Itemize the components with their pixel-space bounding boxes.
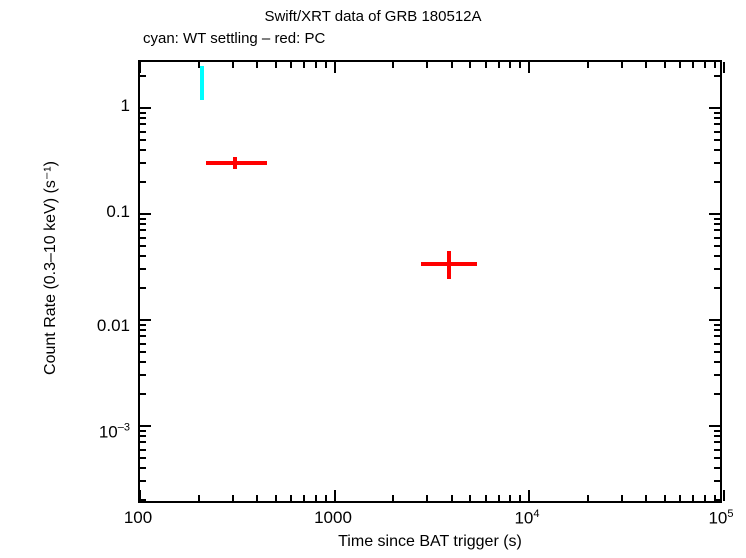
y-axis-tick: [714, 268, 720, 270]
y-axis-tick: [140, 430, 146, 432]
x-axis-tick: [528, 62, 530, 73]
x-axis-tick: [392, 495, 394, 501]
y-axis-tick: [140, 343, 146, 345]
y-axis-tick: [714, 393, 720, 395]
x-axis-tick: [315, 62, 317, 68]
x-axis-tick: [485, 495, 487, 501]
x-axis-tick: [664, 495, 666, 501]
x-axis-tick: [485, 62, 487, 68]
x-axis-tick: [139, 62, 141, 73]
x-axis-tick: [290, 62, 292, 68]
y-axis-tick: [714, 449, 720, 451]
y-axis-tick: [140, 75, 146, 77]
y-axis-tick: [714, 181, 720, 183]
x-axis-tick: [587, 495, 589, 501]
y-axis-tick: [714, 335, 720, 337]
y-tick-label: 10–3: [99, 422, 130, 443]
y-axis-tick: [714, 467, 720, 469]
y-axis-tick: [714, 229, 720, 231]
x-axis-tick: [704, 62, 706, 68]
y-tick-label: 0.01: [97, 316, 130, 336]
y-axis-tick: [140, 449, 146, 451]
x-axis-tick: [232, 495, 234, 501]
x-axis-tick: [232, 62, 234, 68]
x-axis-tick: [290, 495, 292, 501]
y-axis-tick: [714, 117, 720, 119]
x-axis-tick: [426, 495, 428, 501]
y-axis-tick: [140, 139, 146, 141]
y-axis-tick: [714, 480, 720, 482]
y-axis-tick: [140, 457, 146, 459]
y-axis-tick: [709, 213, 720, 215]
y-axis-tick: [714, 374, 720, 376]
x-axis-tick: [392, 62, 394, 68]
x-axis-tick: [256, 495, 258, 501]
x-axis-tick: [303, 495, 305, 501]
x-axis-tick: [256, 62, 258, 68]
x-axis-tick: [451, 62, 453, 68]
legend-subtitle: cyan: WT settling – red: PC: [143, 30, 325, 47]
y-axis-tick: [714, 162, 720, 164]
y-axis-tick: [140, 441, 146, 443]
y-axis-tick: [714, 223, 720, 225]
x-axis-tick: [498, 495, 500, 501]
y-axis-tick: [140, 324, 146, 326]
x-axis-tick: [315, 495, 317, 501]
y-axis-tick: [714, 499, 720, 501]
y-axis-tick: [140, 374, 146, 376]
y-axis-tick: [140, 467, 146, 469]
y-axis-tick: [714, 343, 720, 345]
y-tick-label: 1: [121, 96, 130, 116]
x-axis-tick: [645, 62, 647, 68]
x-axis-tick: [334, 62, 336, 73]
y-axis-tick: [714, 131, 720, 133]
y-axis-tick: [140, 237, 146, 239]
y-axis-tick: [140, 319, 151, 321]
y-axis-tick: [714, 457, 720, 459]
x-tick-label: 105: [708, 508, 733, 529]
x-axis-tick: [645, 495, 647, 501]
y-axis-tick: [140, 131, 146, 133]
y-axis-tick: [714, 123, 720, 125]
y-axis-tick: [140, 107, 151, 109]
y-axis-tick: [140, 245, 146, 247]
x-axis-tick: [528, 490, 530, 501]
x-axis-tick: [723, 62, 725, 73]
x-axis-tick: [426, 62, 428, 68]
x-axis-tick: [679, 495, 681, 501]
y-axis-tick: [709, 319, 720, 321]
x-axis-tick: [325, 62, 327, 68]
x-tick-label: 104: [514, 508, 539, 529]
page-title: Swift/XRT data of GRB 180512A: [0, 8, 746, 25]
y-axis-tick: [140, 329, 146, 331]
y-axis-tick: [140, 123, 146, 125]
y-axis-tick: [140, 218, 146, 220]
x-axis-tick: [714, 62, 716, 68]
x-axis-tick: [509, 62, 511, 68]
x-axis-tick: [679, 62, 681, 68]
x-axis-tick: [498, 62, 500, 68]
x-axis-tick: [469, 62, 471, 68]
x-axis-tick: [621, 62, 623, 68]
x-axis-tick: [275, 62, 277, 68]
x-axis-tick: [664, 62, 666, 68]
y-axis-tick: [140, 117, 146, 119]
x-axis-tick: [325, 495, 327, 501]
x-axis-tick: [692, 62, 694, 68]
y-axis-tick: [714, 324, 720, 326]
y-axis-tick: [140, 213, 151, 215]
plot-frame: [138, 60, 722, 503]
y-axis-tick: [140, 181, 146, 183]
y-axis-tick: [140, 162, 146, 164]
x-axis-tick: [198, 495, 200, 501]
y-axis-tick: [140, 393, 146, 395]
x-axis-label: Time since BAT trigger (s): [138, 533, 722, 551]
y-axis-tick: [714, 218, 720, 220]
y-error-bar: [447, 251, 451, 278]
y-axis-tick: [714, 255, 720, 257]
y-axis-tick: [140, 255, 146, 257]
x-axis-tick: [519, 62, 521, 68]
y-axis-tick: [714, 287, 720, 289]
y-axis-tick: [140, 499, 146, 501]
y-axis-tick: [714, 149, 720, 151]
y-axis-tick: [140, 268, 146, 270]
y-axis-tick: [714, 430, 720, 432]
y-tick-label: 0.1: [106, 202, 130, 222]
y-axis-tick: [140, 112, 146, 114]
plot-canvas: Swift/XRT data of GRB 180512A cyan: WT s…: [0, 0, 746, 558]
y-axis-tick: [140, 229, 146, 231]
y-error-bar: [200, 66, 204, 101]
x-axis-tick: [587, 62, 589, 68]
y-axis-tick: [714, 112, 720, 114]
y-axis-tick: [140, 335, 146, 337]
y-axis-tick: [140, 223, 146, 225]
x-tick-label: 1000: [314, 508, 352, 528]
y-axis-label: Count Rate (0.3–10 keV) (s⁻¹): [40, 18, 60, 518]
x-axis-tick: [519, 495, 521, 501]
x-axis-tick: [303, 62, 305, 68]
x-tick-label: 100: [124, 508, 152, 528]
y-axis-tick: [714, 329, 720, 331]
x-axis-tick: [275, 495, 277, 501]
x-axis-tick: [451, 495, 453, 501]
y-axis-tick: [709, 107, 720, 109]
y-axis-tick: [140, 351, 146, 353]
y-axis-tick: [140, 287, 146, 289]
y-axis-tick: [714, 237, 720, 239]
y-axis-tick: [714, 351, 720, 353]
y-axis-tick: [714, 245, 720, 247]
x-axis-tick: [509, 495, 511, 501]
x-axis-tick: [621, 495, 623, 501]
y-axis-tick: [714, 75, 720, 77]
y-axis-tick: [714, 435, 720, 437]
y-axis-tick: [140, 361, 146, 363]
y-axis-tick: [714, 441, 720, 443]
y-axis-tick: [709, 425, 720, 427]
x-axis-tick: [704, 495, 706, 501]
x-axis-tick: [692, 495, 694, 501]
y-axis-tick: [714, 139, 720, 141]
y-axis-tick: [714, 361, 720, 363]
y-axis-tick: [140, 149, 146, 151]
x-axis-tick: [469, 495, 471, 501]
x-axis-tick: [334, 490, 336, 501]
y-axis-tick: [140, 480, 146, 482]
y-axis-tick: [140, 425, 151, 427]
y-error-bar: [233, 157, 237, 169]
y-axis-tick: [140, 435, 146, 437]
x-axis-tick: [723, 490, 725, 501]
